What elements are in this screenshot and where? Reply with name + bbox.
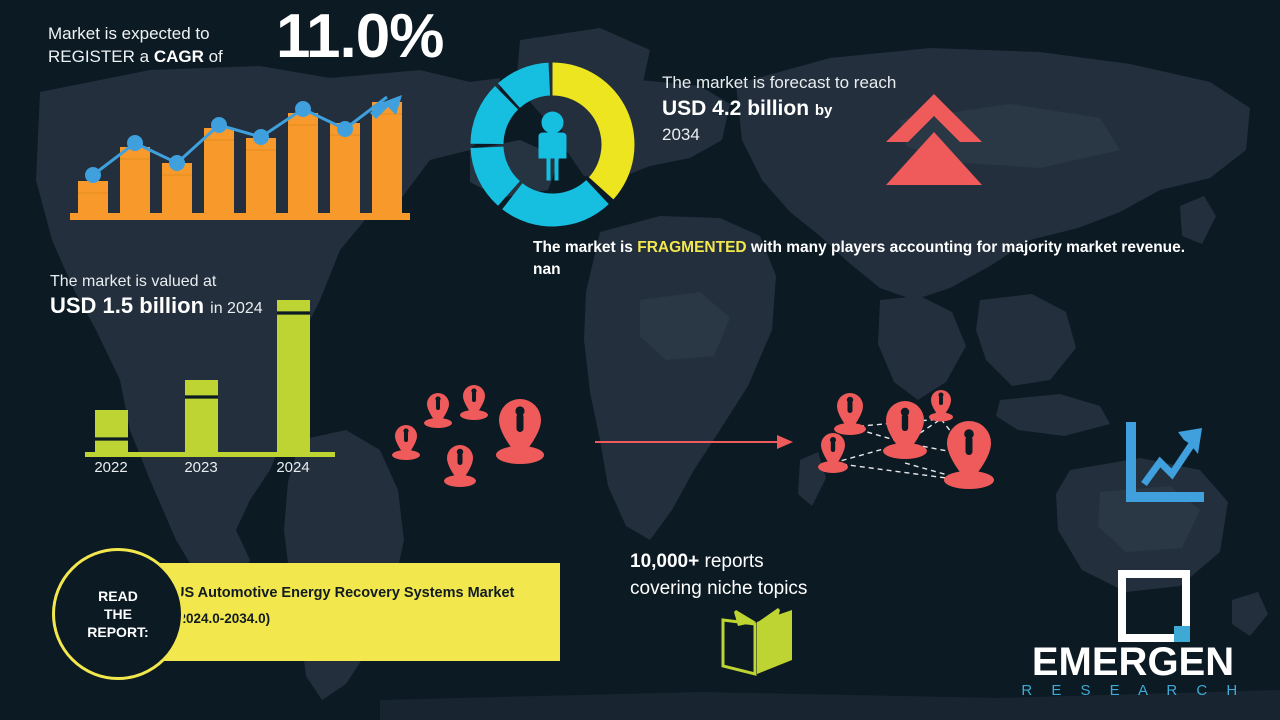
logo-subtitle: R E S E A R C H: [1016, 682, 1250, 700]
market-share-donut-chart: [465, 57, 640, 232]
scattered-market-pins: [380, 385, 580, 495]
green-axis-label-2023: 2023: [184, 459, 217, 475]
orange-chart-baseline: [70, 213, 410, 220]
read-report-label: READ THE REPORT:: [87, 587, 148, 641]
forecast-value: USD 4.2 billion: [662, 97, 809, 120]
fragmentation-statement: The market is FRAGMENTED with many playe…: [533, 237, 1213, 281]
cagr-value: 11.0%: [276, 6, 443, 68]
green-bar-2023: [185, 380, 218, 452]
read-report-badge[interactable]: READ THE REPORT:: [52, 548, 184, 680]
map-pin: [818, 433, 848, 473]
cagr-lead-bold: CAGR: [154, 47, 204, 66]
green-axis-label-2022: 2022: [94, 459, 127, 475]
reports-count-block: 10,000+ reports covering niche topics: [630, 548, 930, 602]
orange-bars: [78, 102, 402, 213]
donut-slice-cyan-1: [502, 180, 609, 226]
emergen-research-logo: EMERGEN R E S E A R C H: [1016, 570, 1250, 700]
green-chart-baseline: [85, 452, 335, 457]
cagr-lead-text: Market is expected to REGISTER a CAGR of: [48, 22, 278, 68]
donut-slice-yellow: [553, 63, 635, 200]
transition-arrow: [595, 432, 795, 452]
forecast-value-row: USD 4.2 billion by: [662, 96, 902, 124]
reports-line2: covering niche topics: [630, 575, 930, 602]
open-book-icon: [718, 608, 796, 678]
cagr-lead-line1: Market is expected to: [48, 24, 210, 43]
map-pin: [424, 393, 452, 428]
reports-count: 10,000+: [630, 551, 699, 572]
forecast-year: 2034: [662, 124, 902, 145]
map-pin: [929, 390, 953, 422]
read-report-banner[interactable]: US Automotive Energy Recovery Systems Ma…: [148, 563, 560, 661]
connected-market-pins: [805, 385, 1010, 500]
green-axis-label-2024: 2024: [276, 459, 309, 475]
map-pin: [944, 421, 994, 489]
up-chevrons-icon: [884, 92, 984, 187]
green-bar-2024: [277, 300, 310, 452]
report-title: US Automotive Energy Recovery Systems Ma…: [174, 583, 544, 603]
reports-line1-rest: reports: [699, 551, 763, 572]
forecast-block: The market is forecast to reach USD 4.2 …: [662, 72, 902, 145]
read-report-line2: THE: [104, 606, 132, 622]
map-pin: [444, 445, 476, 487]
report-year-range: (2024.0-2034.0): [174, 609, 270, 629]
map-pin: [460, 385, 488, 420]
map-pin: [834, 393, 866, 435]
logo-wordmark: EMERGEN: [1016, 640, 1250, 684]
cagr-growth-bar-chart: [70, 85, 410, 220]
logo-mark-icon: [1118, 570, 1190, 642]
fragmented-pre: The market is: [533, 239, 637, 256]
growth-chart-icon: [1120, 418, 1210, 508]
green-bars: [95, 300, 310, 452]
map-pin: [496, 399, 544, 464]
fragmented-highlight: FRAGMENTED: [637, 239, 746, 256]
valued-lead: The market is valued at: [50, 272, 350, 292]
read-report-line3: REPORT:: [87, 624, 148, 640]
cagr-lead-line2-post: of: [204, 47, 223, 66]
green-bar-2022: [95, 410, 128, 452]
map-pin: [392, 425, 420, 460]
reports-line1: 10,000+ reports: [630, 548, 930, 575]
forecast-by: by: [815, 102, 833, 119]
infographic-canvas: Market is expected to REGISTER a CAGR of…: [0, 0, 1280, 720]
cagr-lead-line2-pre: REGISTER a: [48, 47, 154, 66]
forecast-lead: The market is forecast to reach: [662, 72, 902, 94]
map-pin: [883, 401, 927, 459]
market-value-bar-chart: 2022 2023 2024: [85, 300, 335, 475]
read-report-line1: READ: [98, 588, 138, 604]
person-icon: [539, 112, 567, 181]
